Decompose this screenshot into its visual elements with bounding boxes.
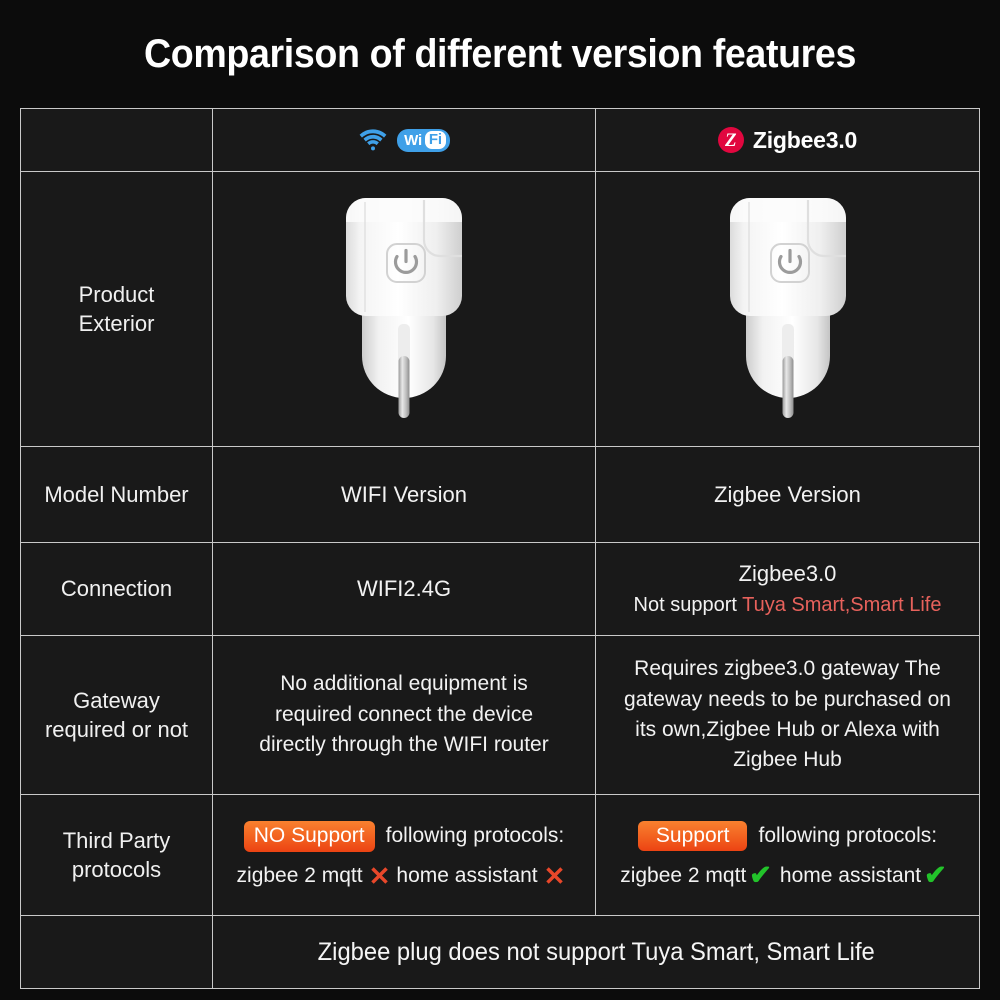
- cell-zigbee-connection: Zigbee3.0 Not support Tuya Smart,Smart L…: [596, 543, 979, 635]
- table-row-model-number: Model Number WIFI Version Zigbee Version: [21, 447, 979, 543]
- cell-empty-corner: [21, 109, 213, 171]
- cell-zigbee-logo: Z Zigbee3.0: [596, 109, 979, 171]
- page-title: Comparison of different version features: [30, 0, 970, 95]
- comparison-infographic: Comparison of different version features: [0, 0, 1000, 1000]
- wifi-protocol-item-1: zigbee 2 mqtt: [237, 864, 363, 888]
- zigbee-protocol-block: Support following protocols: zigbee 2 mq…: [606, 821, 969, 890]
- row-label-line2: Exterior: [79, 309, 155, 338]
- wifi-signal-icon: [358, 128, 388, 152]
- cell-wifi-gateway: No additional equipment is required conn…: [213, 636, 596, 794]
- row-label-gateway: Gateway required or not: [21, 636, 213, 794]
- gateway-label-line2: required or not: [45, 715, 188, 744]
- row-label-product-exterior: Product Exterior: [21, 172, 213, 446]
- table-row-logos: WiFi Z Zigbee3.0: [21, 109, 979, 172]
- third-party-label-line1: Third Party: [63, 826, 171, 855]
- comparison-table: WiFi Z Zigbee3.0 Product Exterior: [20, 108, 980, 989]
- row-label-model-number: Model Number: [21, 447, 213, 542]
- zigbee-connection-value: Zigbee3.0: [634, 559, 942, 589]
- wifi-protocol-caption: following protocols:: [386, 824, 565, 848]
- cell-wifi-connection: WIFI2.4G: [213, 543, 596, 635]
- zigbee-logo: Z Zigbee3.0: [718, 127, 857, 154]
- wifi-gateway-text: No additional equipment is required conn…: [244, 669, 564, 760]
- zigbee-connection-note: Not support Tuya Smart,Smart Life: [634, 592, 942, 619]
- zigbee-protocol-header: Support following protocols:: [638, 821, 937, 852]
- footer-note-text: Zigbee plug does not support Tuya Smart,…: [317, 938, 874, 967]
- wifi-wordmark-fi: Fi: [425, 131, 446, 149]
- cell-footer-note: Zigbee plug does not support Tuya Smart,…: [213, 916, 979, 988]
- wifi-protocol-block: NO Support following protocols: zigbee 2…: [223, 821, 585, 889]
- row-label-connection: Connection: [21, 543, 213, 635]
- wifi-connection-value: WIFI2.4G: [357, 576, 451, 602]
- table-row-footer-note: Zigbee plug does not support Tuya Smart,…: [21, 916, 979, 988]
- zigbee-gateway-text: Requires zigbee3.0 gateway The gateway n…: [615, 654, 960, 776]
- wifi-wordmark-wi: Wi: [404, 132, 422, 149]
- cross-icon: ✕: [369, 863, 391, 889]
- zigbee-protocol-item-1: zigbee 2 mqtt: [620, 864, 746, 888]
- wifi-protocol-header: NO Support following protocols:: [244, 821, 564, 852]
- row-label-third-party: Third Party protocols: [21, 795, 213, 915]
- table-row-product-exterior: Product Exterior: [21, 172, 979, 447]
- zigbee-wordmark: Zigbee3.0: [753, 127, 857, 154]
- table-row-connection: Connection WIFI2.4G Zigbee3.0 Not suppor…: [21, 543, 979, 636]
- zigbee-protocol-caption: following protocols:: [758, 824, 937, 848]
- zigbee-protocol-list: zigbee 2 mqtt ✔ home assistant ✔: [620, 862, 955, 889]
- cross-icon: ✕: [544, 863, 566, 889]
- cell-zigbee-product-image: [596, 172, 979, 446]
- cell-zigbee-model: Zigbee Version: [596, 447, 979, 542]
- cell-wifi-product-image: [213, 172, 596, 446]
- wifi-logo: WiFi: [358, 128, 450, 152]
- table-row-third-party-protocols: Third Party protocols NO Support followi…: [21, 795, 979, 916]
- wifi-protocol-list: zigbee 2 mqtt ✕ home assistant ✕: [237, 863, 572, 889]
- zigbee-connection-block: Zigbee3.0 Not support Tuya Smart,Smart L…: [634, 559, 942, 619]
- cell-wifi-model: WIFI Version: [213, 447, 596, 542]
- smart-plug-zigbee-photo: [606, 178, 969, 440]
- cell-zigbee-gateway: Requires zigbee3.0 gateway The gateway n…: [596, 636, 979, 794]
- table-row-gateway: Gateway required or not No additional eq…: [21, 636, 979, 795]
- wifi-wordmark: WiFi: [397, 129, 450, 152]
- check-icon: ✔: [749, 862, 772, 889]
- third-party-label-line2: protocols: [63, 855, 171, 884]
- cell-zigbee-third-party: Support following protocols: zigbee 2 mq…: [596, 795, 979, 915]
- zigbee-note-prefix: Not support: [634, 594, 743, 616]
- wifi-protocol-item-2: home assistant: [396, 864, 537, 888]
- row-label-line1: Product: [79, 280, 155, 309]
- zigbee-note-highlight: Tuya Smart,Smart Life: [742, 594, 941, 616]
- gateway-label-line1: Gateway: [45, 686, 188, 715]
- cell-wifi-logo: WiFi: [213, 109, 596, 171]
- cell-footer-empty: [21, 916, 213, 988]
- wifi-support-badge: NO Support: [244, 821, 375, 852]
- zigbee-protocol-item-2: home assistant: [780, 864, 921, 888]
- smart-plug-wifi-photo: [223, 178, 585, 440]
- cell-wifi-third-party: NO Support following protocols: zigbee 2…: [213, 795, 596, 915]
- check-icon: ✔: [924, 862, 947, 889]
- zigbee-support-badge: Support: [638, 821, 748, 852]
- zigbee-logo-icon: Z: [718, 127, 744, 153]
